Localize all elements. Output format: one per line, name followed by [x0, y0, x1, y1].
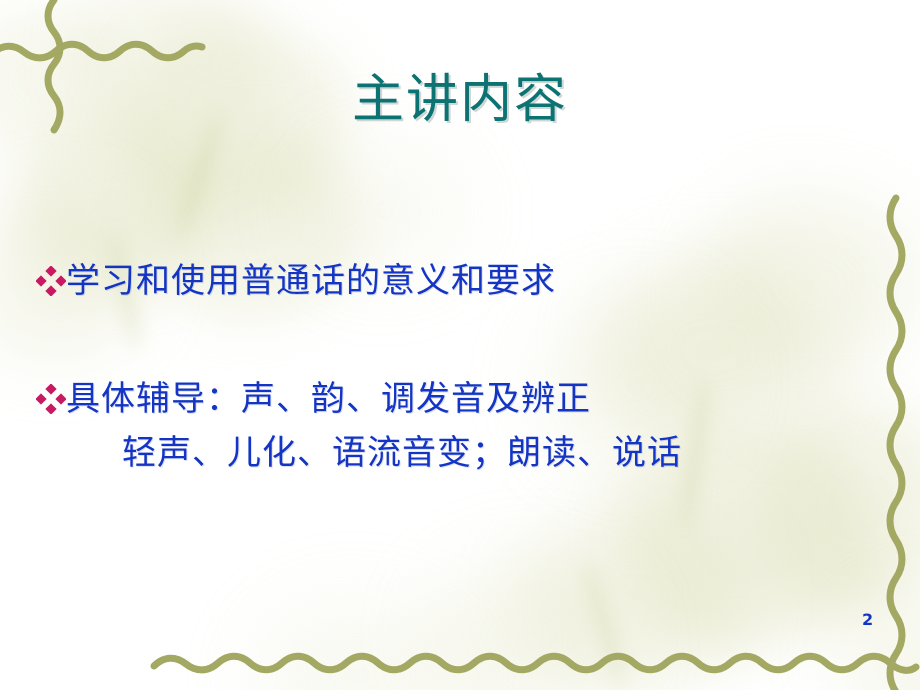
- bullet-1-text: 学习和使用普通话的意义和要求: [66, 262, 886, 300]
- slide-title: 主讲内容: [0, 72, 920, 129]
- slide-canvas: 主讲内容 学习和使用普通话的意义和要求: [0, 0, 920, 690]
- four-diamond-bullet-icon: [36, 266, 66, 308]
- bullet-item-1: 学习和使用普通话的意义和要求: [36, 262, 886, 304]
- watermark-leaf: [430, 560, 630, 690]
- watermark-leaf: [520, 500, 750, 690]
- bullet-2-text: 具体辅导：声、韵、调发音及辨正 轻声、儿化、语流音变；朗读、说话: [66, 380, 886, 472]
- bamboo-stroke-bottom-horizontal-icon: [150, 644, 920, 684]
- watermark-stem: [582, 561, 626, 688]
- bullet-2-line-2: 轻声、儿化、语流音变；朗读、说话: [66, 434, 886, 472]
- bullet-item-2: 具体辅导：声、韵、调发音及辨正 轻声、儿化、语流音变；朗读、说话: [36, 380, 886, 472]
- watermark-stem: [175, 112, 225, 239]
- bullet-2-line-1: 具体辅导：声、韵、调发音及辨正: [66, 379, 591, 419]
- four-diamond-bullet-icon: [36, 384, 66, 426]
- watermark-leaf: [840, 590, 920, 690]
- bamboo-stroke-top-horizontal-icon: [0, 30, 205, 70]
- slide-body: 学习和使用普通话的意义和要求 具体辅导：声、韵、调发音及辨正 轻声、儿化、语流音…: [36, 262, 886, 472]
- watermark-leaf: [300, 140, 470, 280]
- page-number: 2: [862, 610, 873, 629]
- watermark-leaf: [250, 600, 470, 690]
